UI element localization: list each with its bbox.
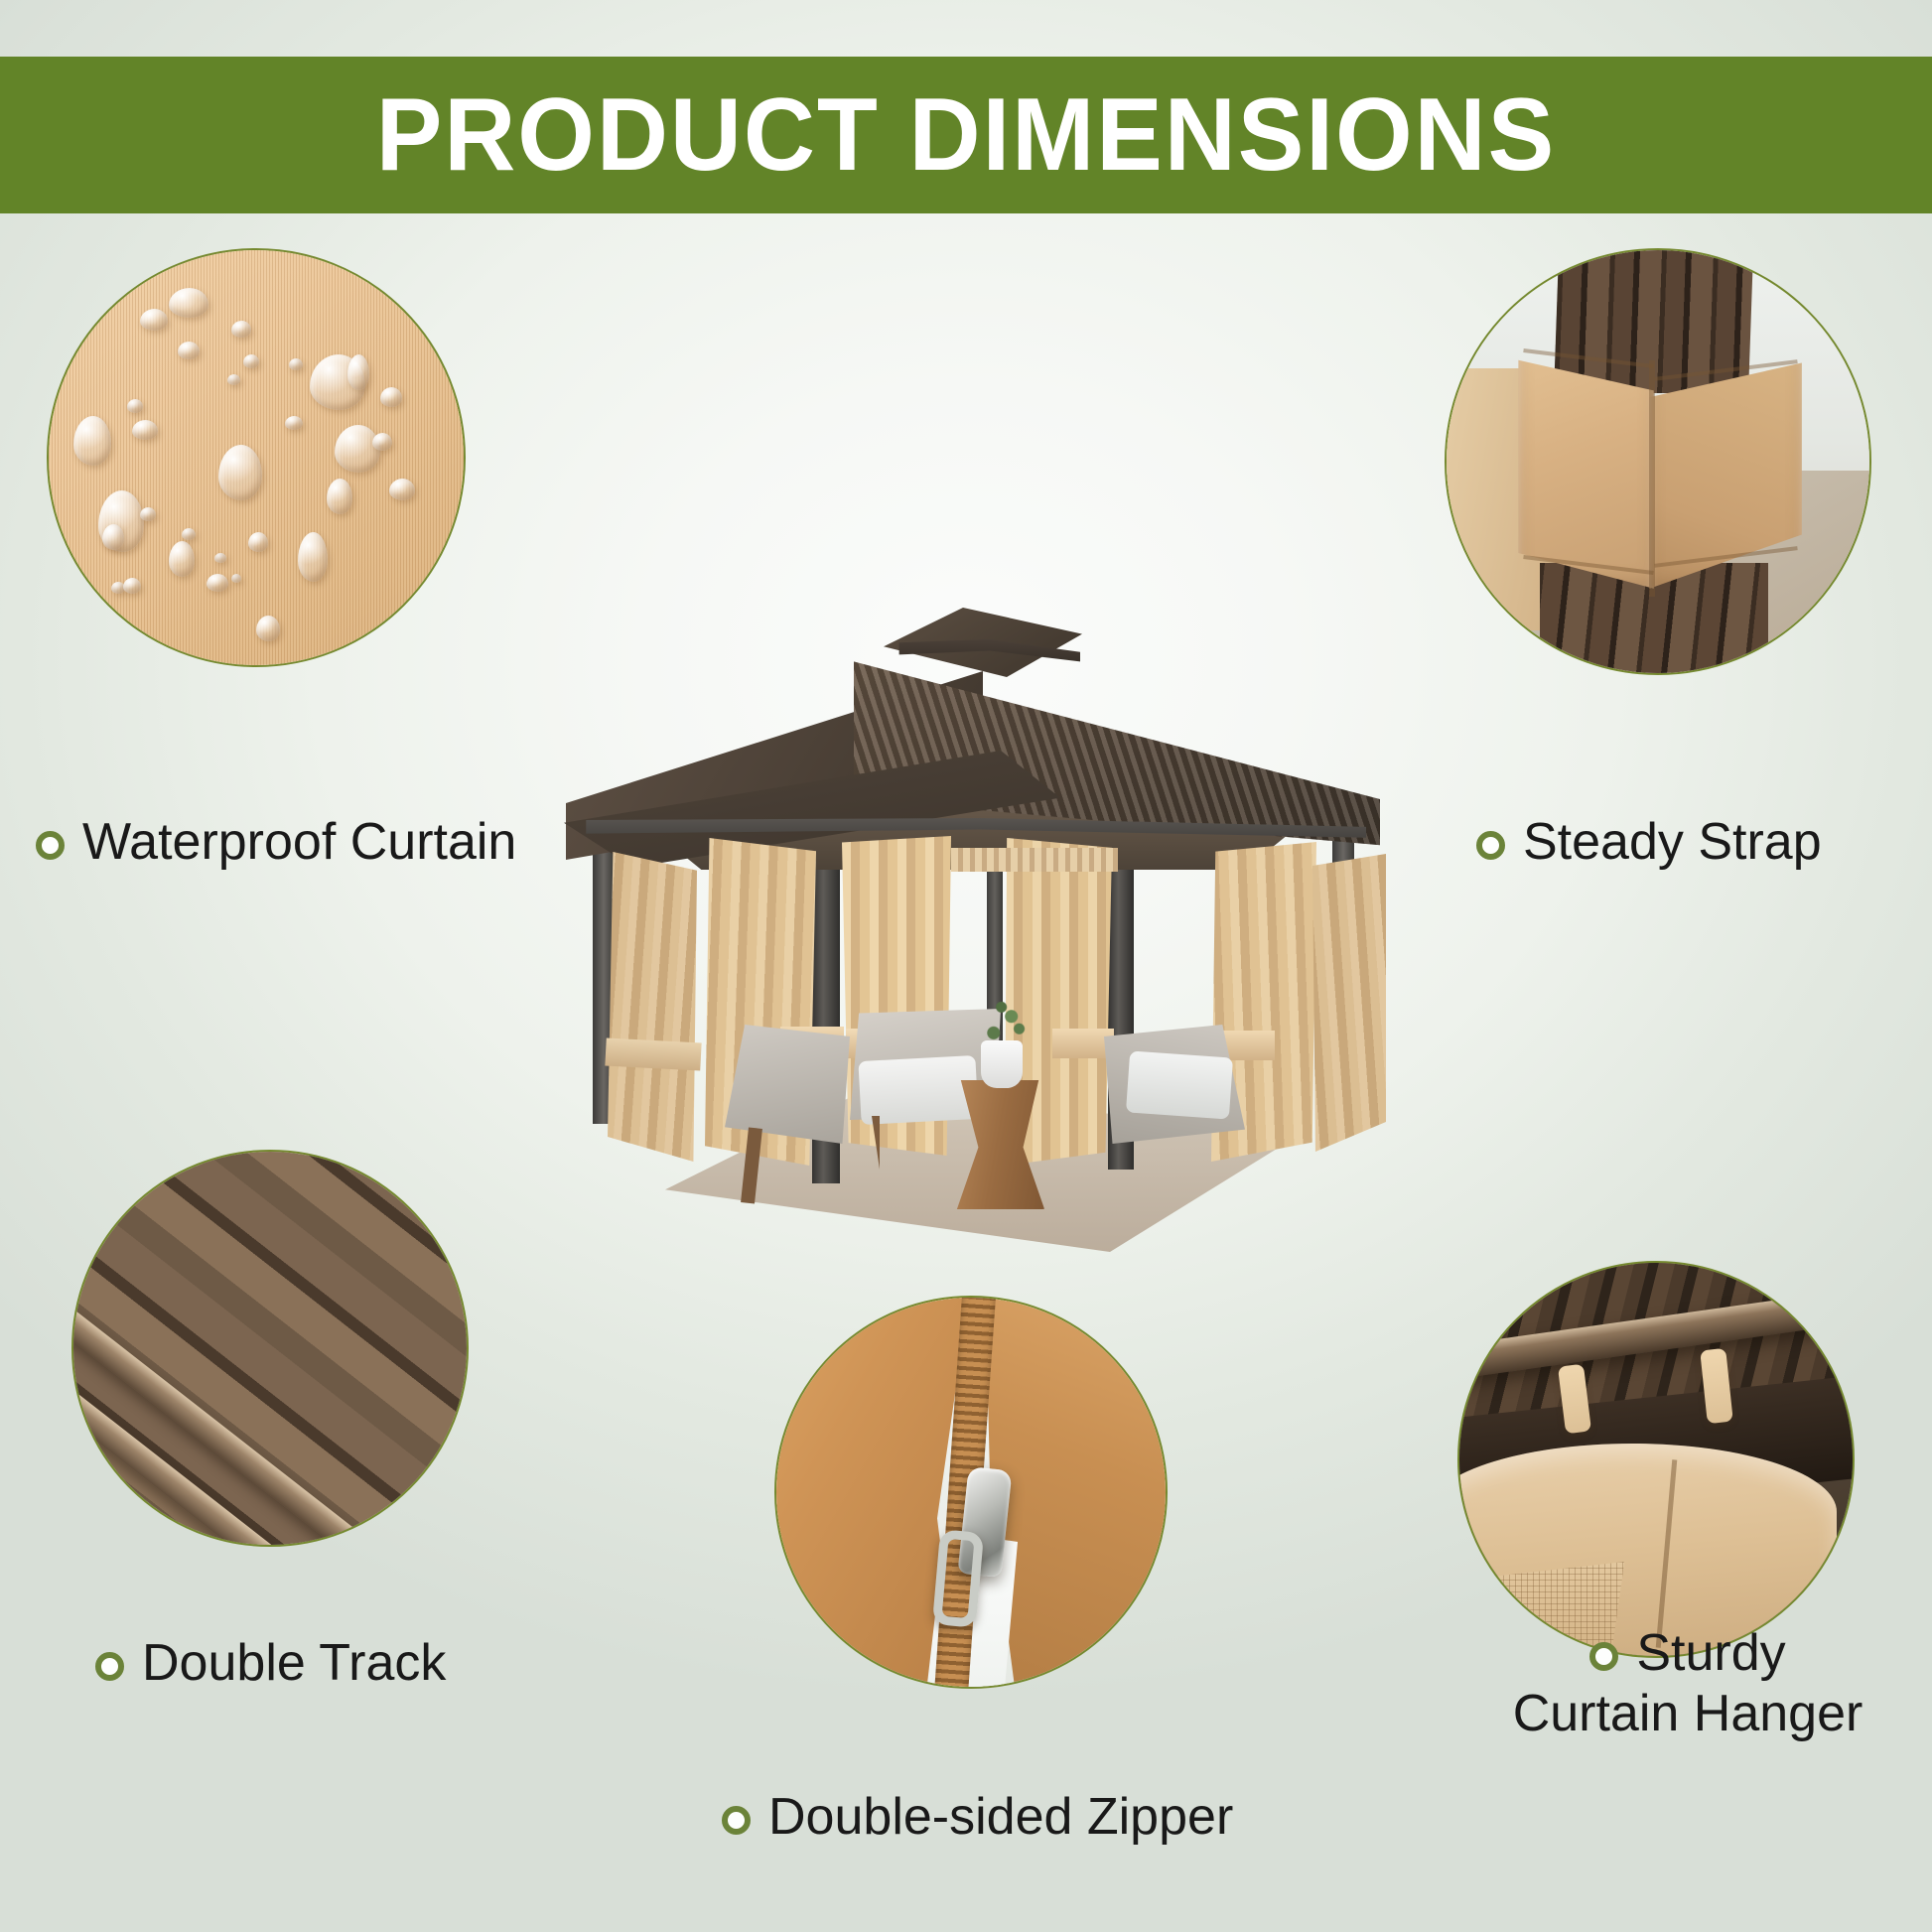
- feature-image-waterproof-curtain: [47, 248, 466, 667]
- feature-label-double-track: Double Track: [95, 1633, 446, 1694]
- feature-image-double-track: [71, 1150, 469, 1547]
- waterproof-fabric-texture: [49, 250, 464, 665]
- bullet-icon: [1476, 831, 1505, 860]
- steady-strap-photo: [1447, 250, 1869, 673]
- header-banner: PRODUCT DIMENSIONS: [0, 57, 1932, 213]
- bullet-icon: [36, 831, 65, 860]
- gazebo-curtain-far-right: [1312, 854, 1386, 1152]
- bullet-icon: [1589, 1642, 1618, 1671]
- feature-image-double-sided-zipper: [774, 1296, 1168, 1689]
- feature-label-waterproof-curtain: Waterproof Curtain: [36, 812, 516, 873]
- feature-image-steady-strap: [1445, 248, 1871, 675]
- feature-label-steady-strap: Steady Strap: [1476, 812, 1822, 873]
- bullet-icon: [95, 1652, 124, 1681]
- feature-label-sturdy-curtain-hanger: Sturdy Curtain Hanger: [1489, 1623, 1886, 1745]
- plant-foliage: [977, 997, 1033, 1048]
- page-title: PRODUCT DIMENSIONS: [376, 83, 1556, 187]
- feature-label-double-sided-zipper: Double-sided Zipper: [722, 1787, 1233, 1848]
- bullet-icon: [722, 1806, 751, 1835]
- furniture-right-chair-cushion: [1126, 1050, 1233, 1119]
- gazebo-netting-valance: [951, 848, 1118, 872]
- gazebo-curtain-far-left: [608, 852, 697, 1162]
- furniture-left-chair: [725, 1025, 850, 1144]
- zipper-photo: [776, 1298, 1166, 1687]
- infographic-page: PRODUCT DIMENSIONS: [0, 0, 1932, 1932]
- product-image-gazebo: [556, 592, 1390, 1277]
- gazebo-curtain-tie-far-left: [605, 1038, 701, 1071]
- curtain-hanger-photo: [1459, 1263, 1853, 1656]
- feature-image-sturdy-curtain-hanger: [1457, 1261, 1855, 1658]
- furniture-centre-cushion: [858, 1055, 978, 1125]
- double-track-photo: [73, 1152, 467, 1545]
